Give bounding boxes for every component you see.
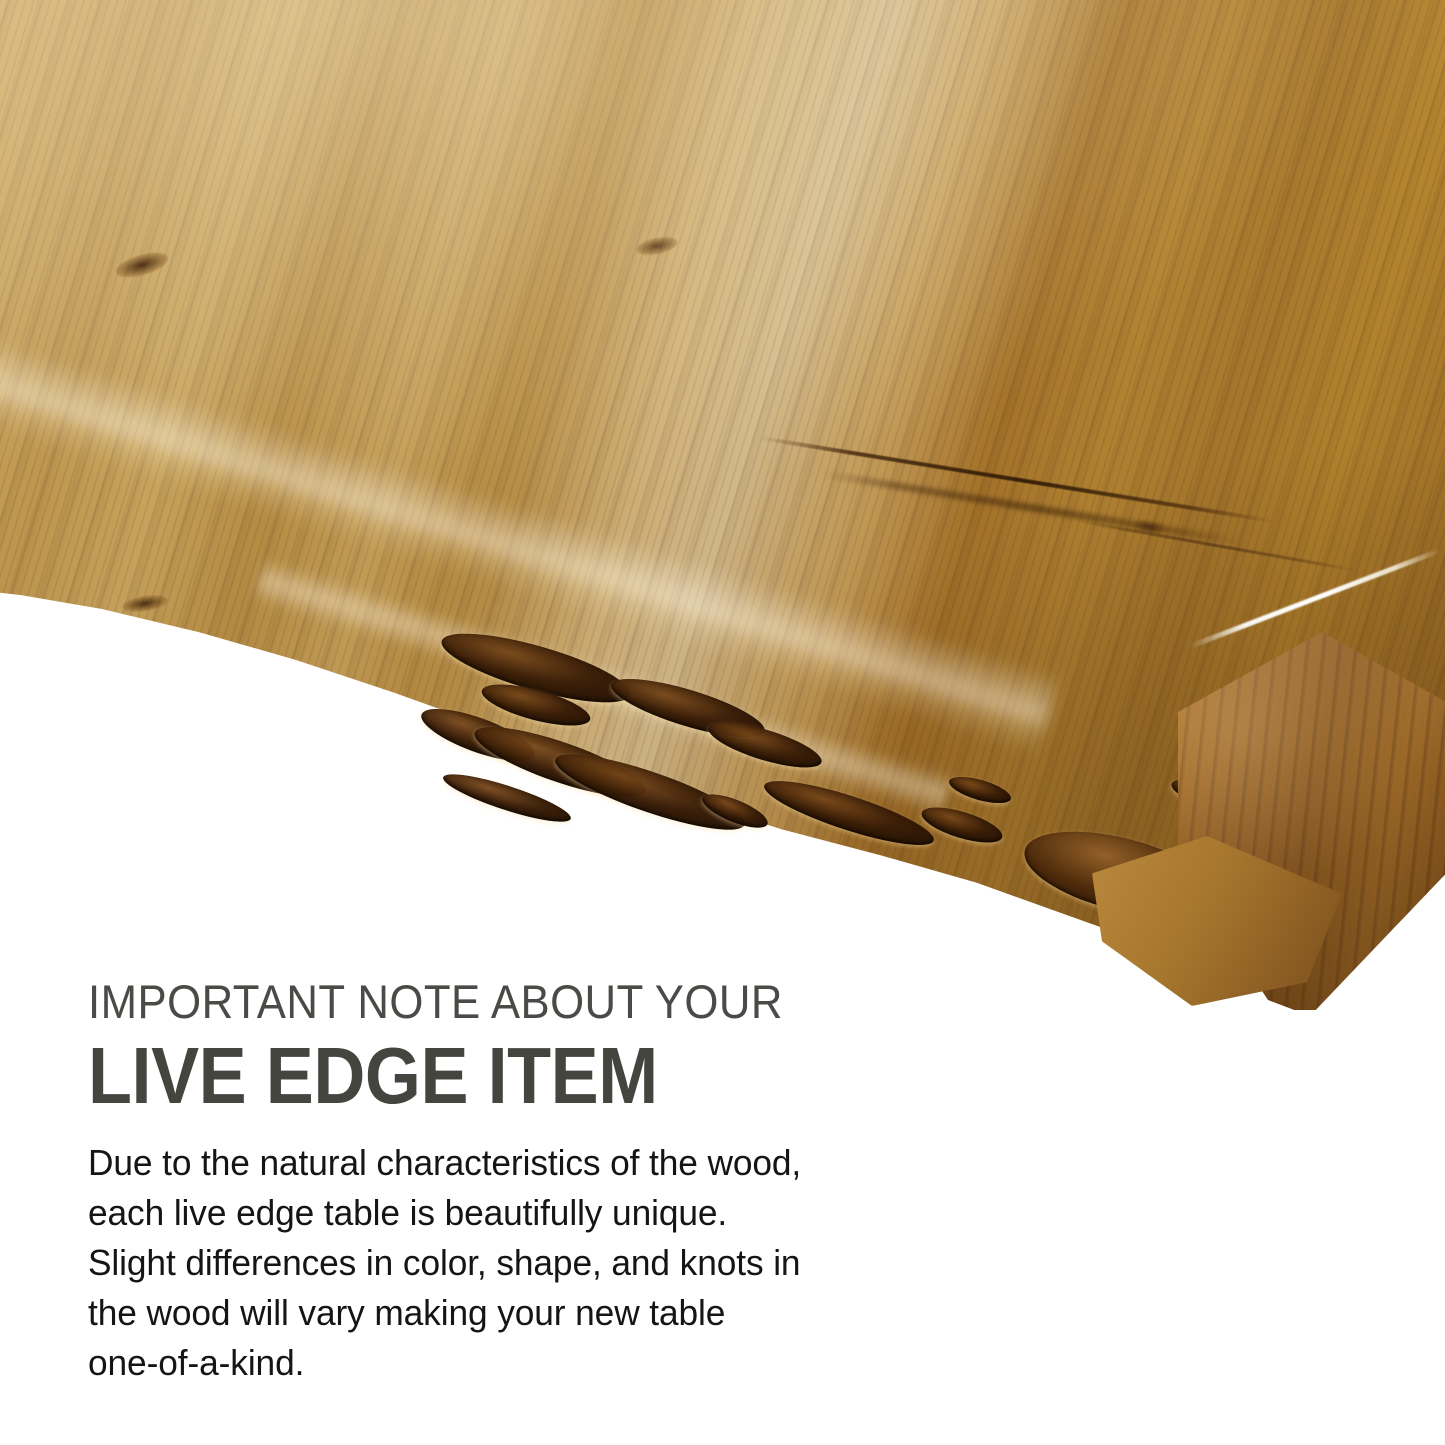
note-kicker: IMPORTANT NOTE ABOUT YOUR [88, 978, 1018, 1025]
note-body-line: Slight differences in color, shape, and … [88, 1238, 1068, 1288]
note-body-line: Due to the natural characteristics of th… [88, 1138, 1068, 1188]
note-body-line: each live edge table is beautifully uniq… [88, 1188, 1068, 1238]
live-edge-table-photo [0, 0, 1445, 1010]
product-info-card: IMPORTANT NOTE ABOUT YOUR LIVE EDGE ITEM… [0, 0, 1445, 1445]
note-body-line: the wood will vary making your new table [88, 1288, 1068, 1338]
note-headline: LIVE EDGE ITEM [88, 1036, 988, 1116]
note-text-block: IMPORTANT NOTE ABOUT YOUR LIVE EDGE ITEM… [88, 978, 1088, 1388]
note-body: Due to the natural characteristics of th… [88, 1138, 1088, 1388]
note-body-line: one-of-a-kind. [88, 1338, 1068, 1388]
live-edge-cavity [440, 766, 575, 830]
